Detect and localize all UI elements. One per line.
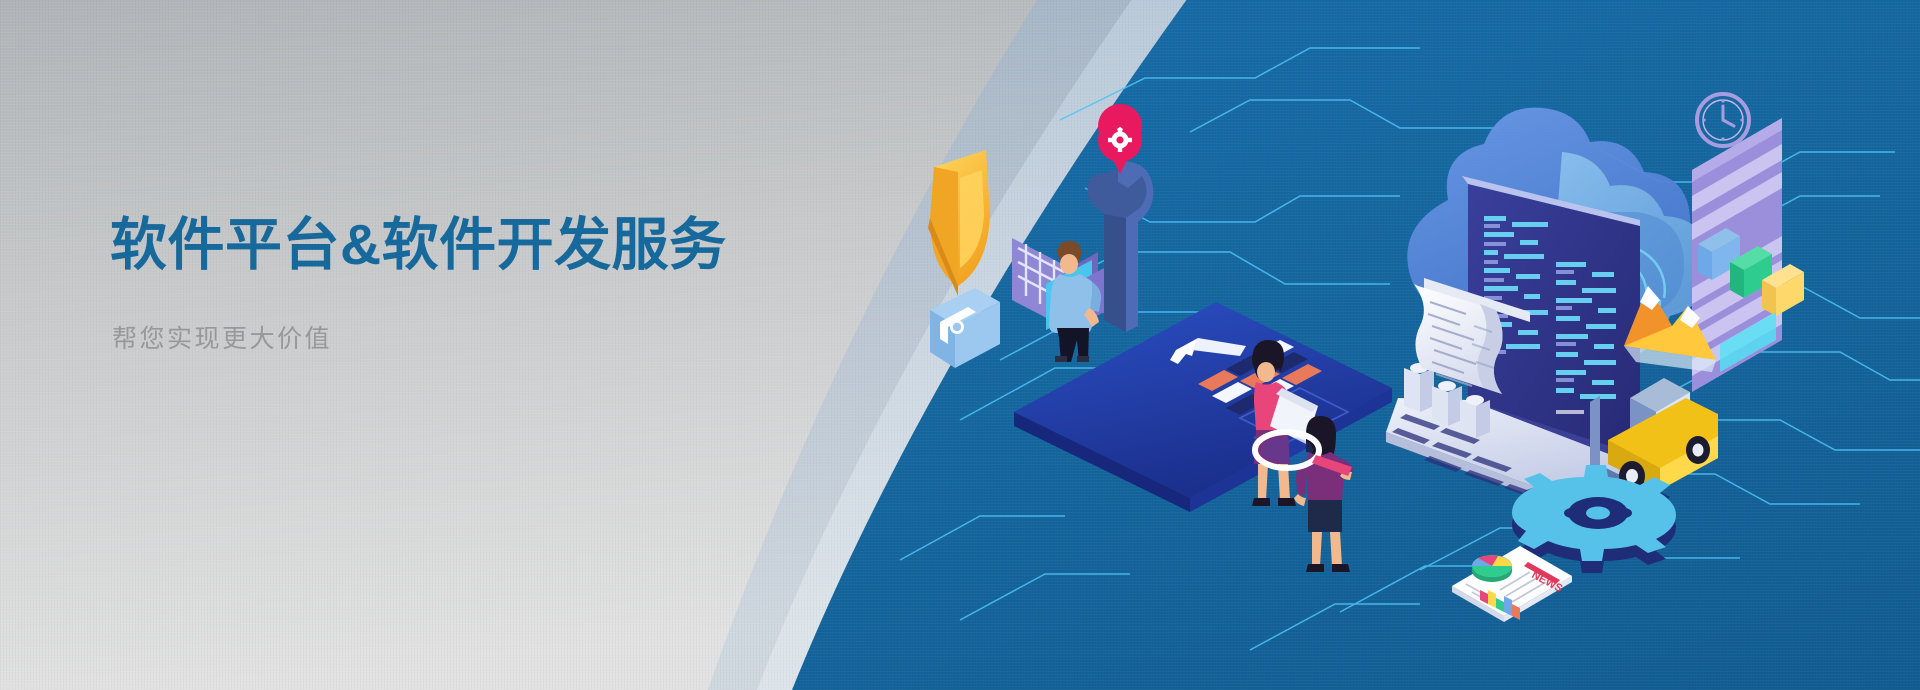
card-blue: [1698, 228, 1740, 280]
mountain-chart: [1624, 286, 1776, 372]
hero-banner: NEWS 软件平台&软件开发服务 帮您实现更大价值: [0, 0, 1920, 690]
laptop-code-screen: [1386, 176, 1640, 506]
cursor-arrow-icon: [1170, 338, 1246, 364]
page-subtitle: 帮您实现更大价值: [112, 319, 870, 355]
person-inspector: [1294, 416, 1354, 572]
card-yellow: [1762, 264, 1804, 316]
clock-icon: [1697, 94, 1749, 146]
camera-icon: [930, 288, 1000, 368]
dashboard-platform: [1014, 302, 1392, 512]
shield-icon: [928, 150, 990, 296]
card-green: [1730, 246, 1772, 298]
gear-stack-icon: [1512, 465, 1676, 573]
news-document: NEWS: [1452, 546, 1572, 622]
news-label: NEWS: [1530, 569, 1565, 595]
keyboard-keys: [1392, 414, 1544, 500]
wrench-icon: [1088, 162, 1154, 332]
person-engineer: [1049, 241, 1101, 362]
gear-pin-icon: [1098, 104, 1142, 174]
person-analyst: [1252, 340, 1318, 506]
page-title: 软件平台&软件开发服务: [110, 212, 870, 279]
bar-chart-3d: [1404, 363, 1490, 438]
code-lines: [1484, 216, 1616, 414]
magnifier-icon: [1255, 432, 1352, 476]
document-panel: [1692, 118, 1804, 392]
bar-chart-small: [1480, 590, 1520, 620]
pie-chart: [1472, 555, 1512, 582]
data-grid-tiles: [1198, 340, 1322, 415]
forklift-icon: [1580, 378, 1718, 492]
calendar-panel: [1012, 238, 1104, 336]
cloud-icon: [1407, 108, 1710, 360]
banner-text-block: 软件平台&软件开发服务 帮您实现更大价值: [110, 212, 870, 355]
receipt-paper: [1414, 278, 1530, 394]
